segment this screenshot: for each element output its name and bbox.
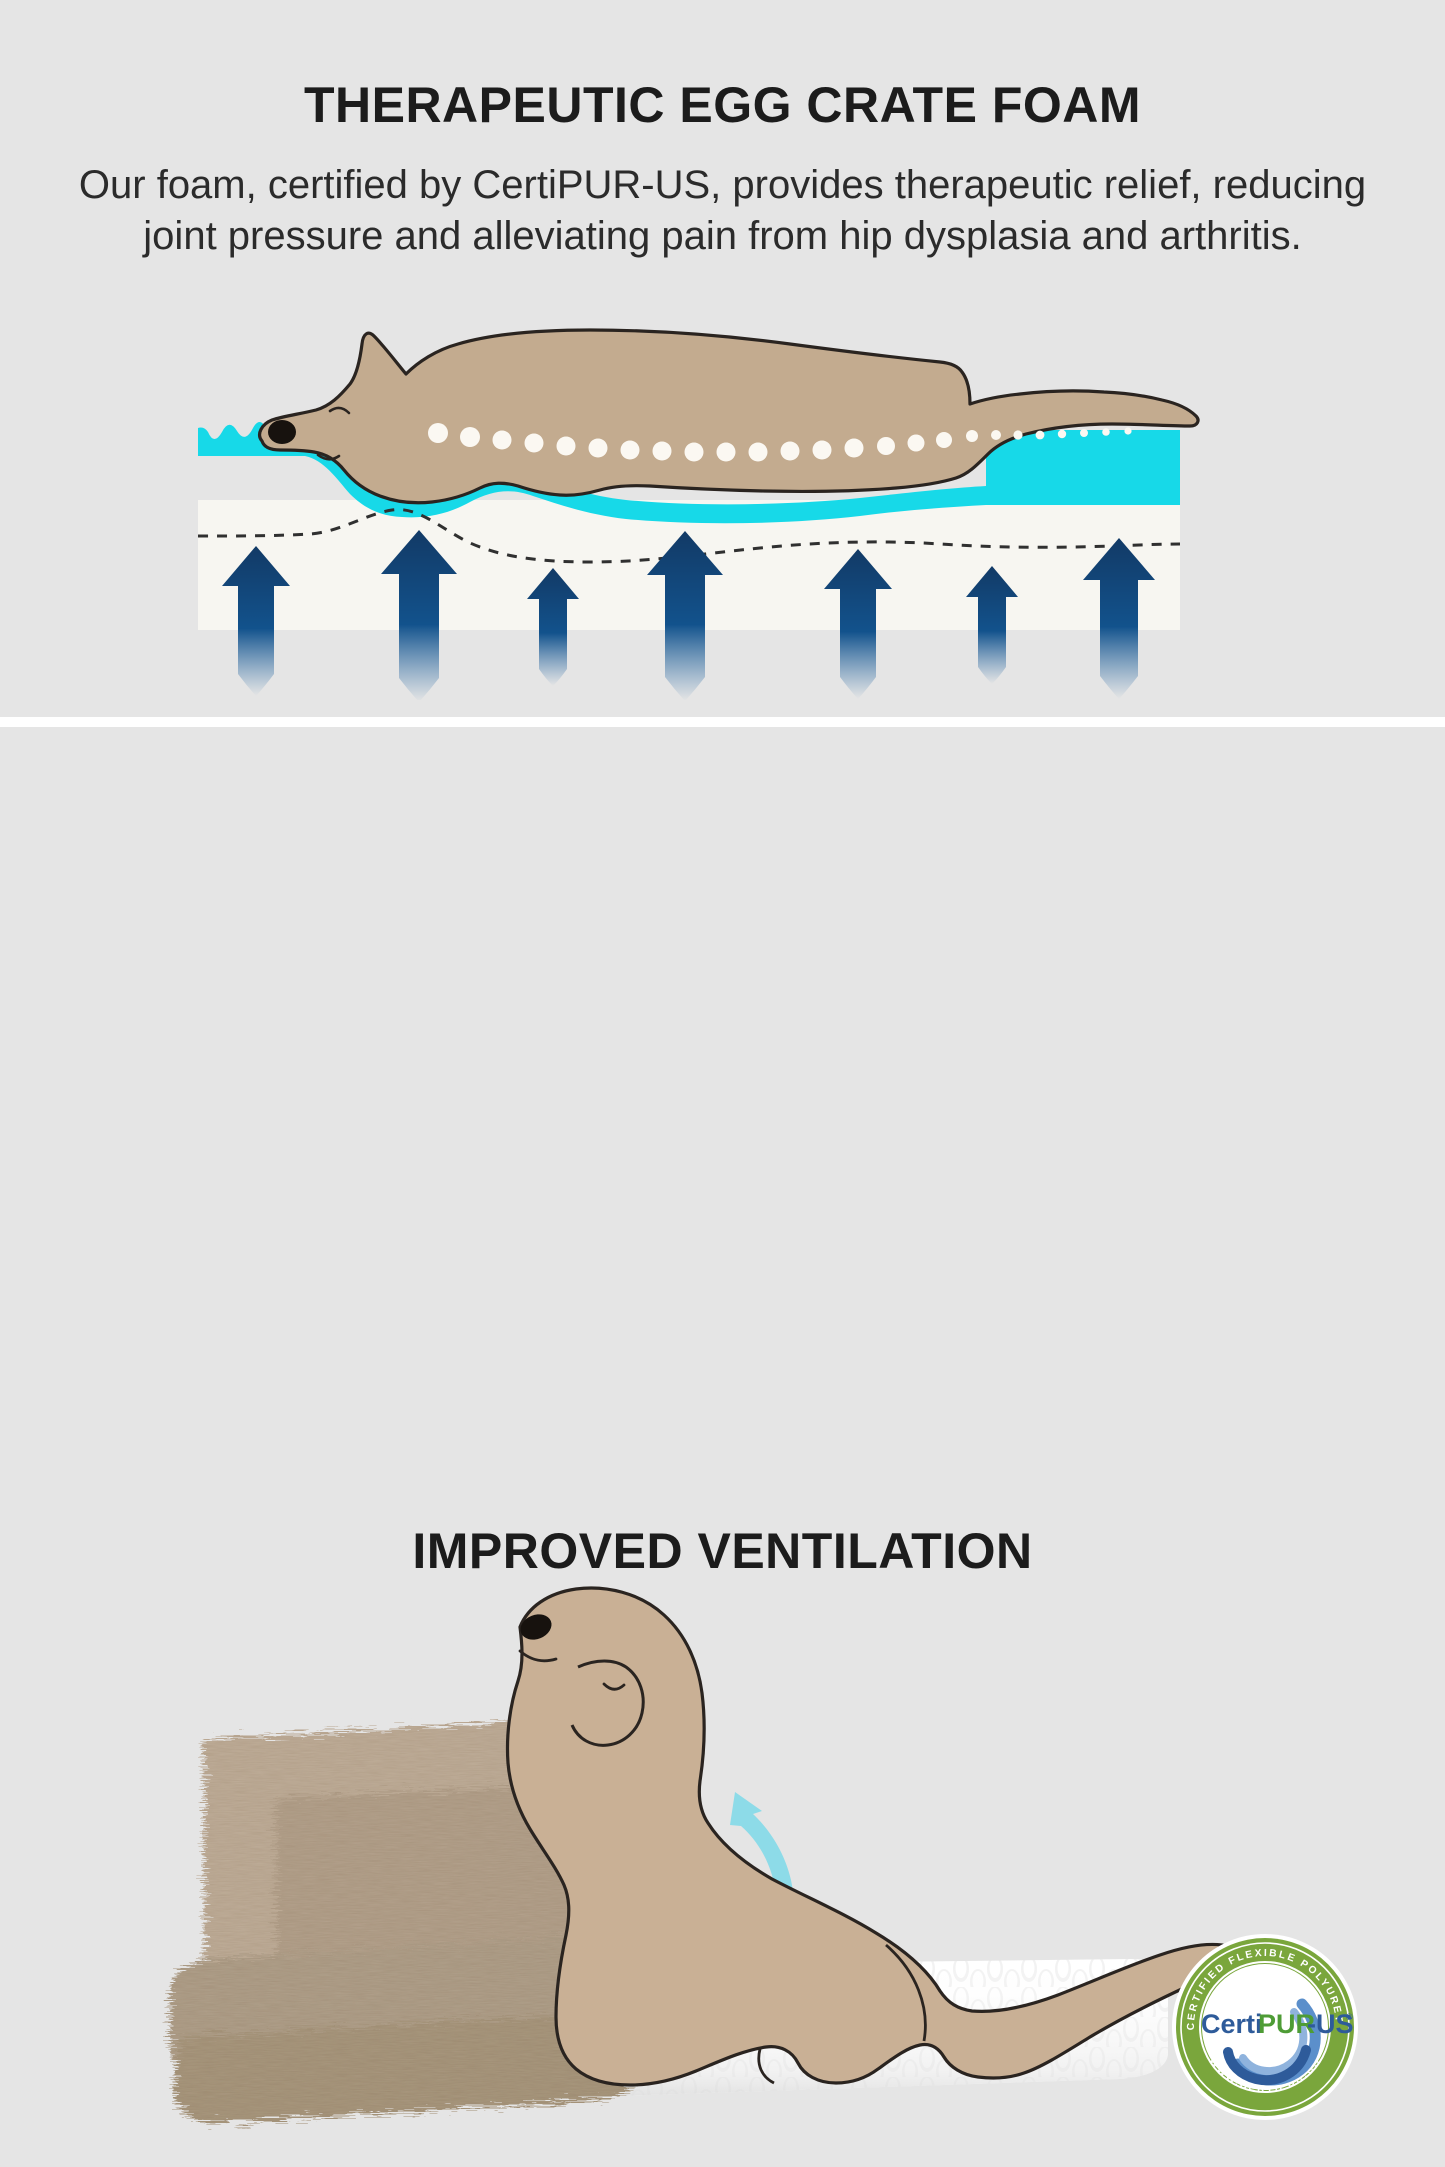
seal-wordmark: Certi PUR -US ® — [1201, 2009, 1354, 2039]
section-divider — [0, 717, 1445, 727]
therapeutic-foam-section: THERAPEUTIC EGG CRATE FOAM Our foam, cer… — [0, 0, 1445, 717]
page-title-therapeutic: THERAPEUTIC EGG CRATE FOAM — [0, 76, 1445, 134]
dog-sitting-illustration — [507, 1588, 1236, 2085]
foam-cross-section-illustration — [0, 300, 1445, 700]
svg-text:Certi: Certi — [1201, 2009, 1263, 2039]
certipur-us-seal: CONTAINS CERTIFIED FLEXIBLE POLYURETHANE… — [1170, 1932, 1360, 2122]
svg-text:®: ® — [1346, 2012, 1353, 2022]
ventilation-section: IMPROVED VENTILATION — [0, 727, 1445, 1445]
dog-nose — [268, 420, 296, 444]
therapeutic-description-text: Our foam, certified by CertiPUR-US, prov… — [53, 160, 1393, 262]
